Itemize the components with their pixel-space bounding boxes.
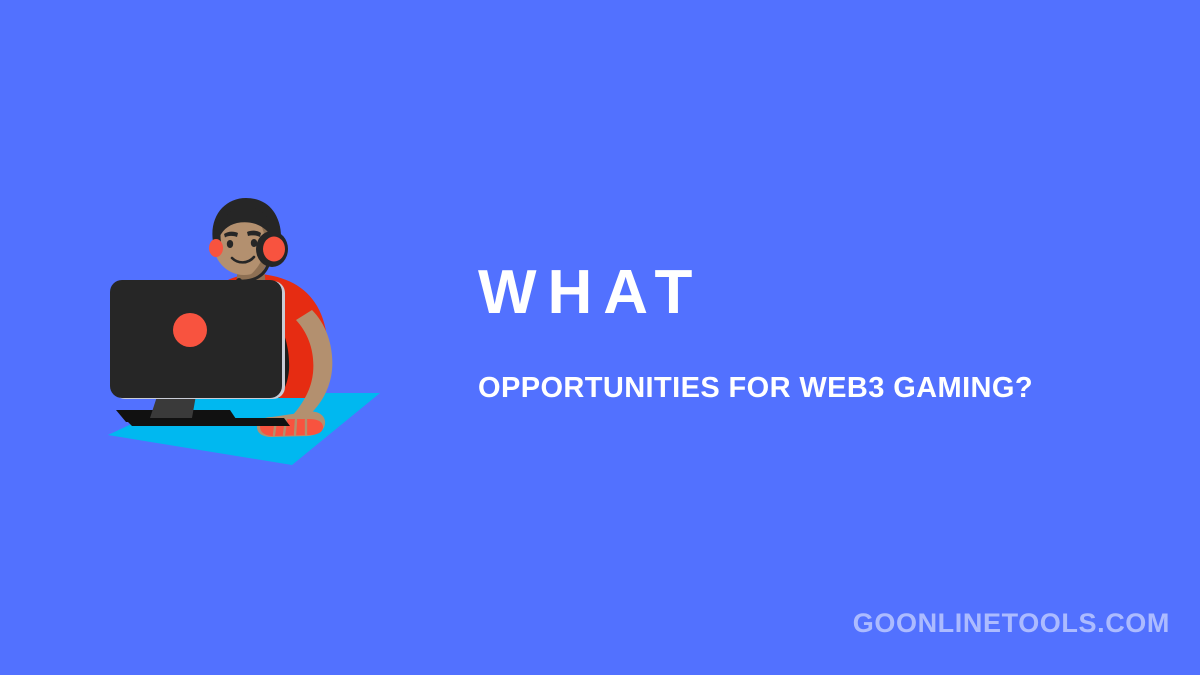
person-eye-left	[227, 240, 233, 248]
person-eye-right	[251, 239, 257, 247]
watermark-label: GOONLINETOOLS.COM	[853, 608, 1170, 639]
headset-earcup-left	[209, 239, 223, 257]
gamer-at-monitor-illustration	[80, 190, 390, 470]
monitor-base-shadow	[124, 418, 290, 426]
desk-mat	[108, 393, 380, 465]
page-subtitle: OPPORTUNITIES FOR WEB3 GAMING?	[478, 324, 1138, 403]
headset-earcup-inner	[263, 237, 285, 262]
headline-block: WHAT OPPORTUNITIES FOR WEB3 GAMING?	[478, 262, 1138, 403]
page-title: WHAT	[478, 262, 1138, 324]
promo-banner: WHAT OPPORTUNITIES FOR WEB3 GAMING? GOON…	[0, 0, 1200, 675]
power-indicator	[173, 313, 207, 347]
